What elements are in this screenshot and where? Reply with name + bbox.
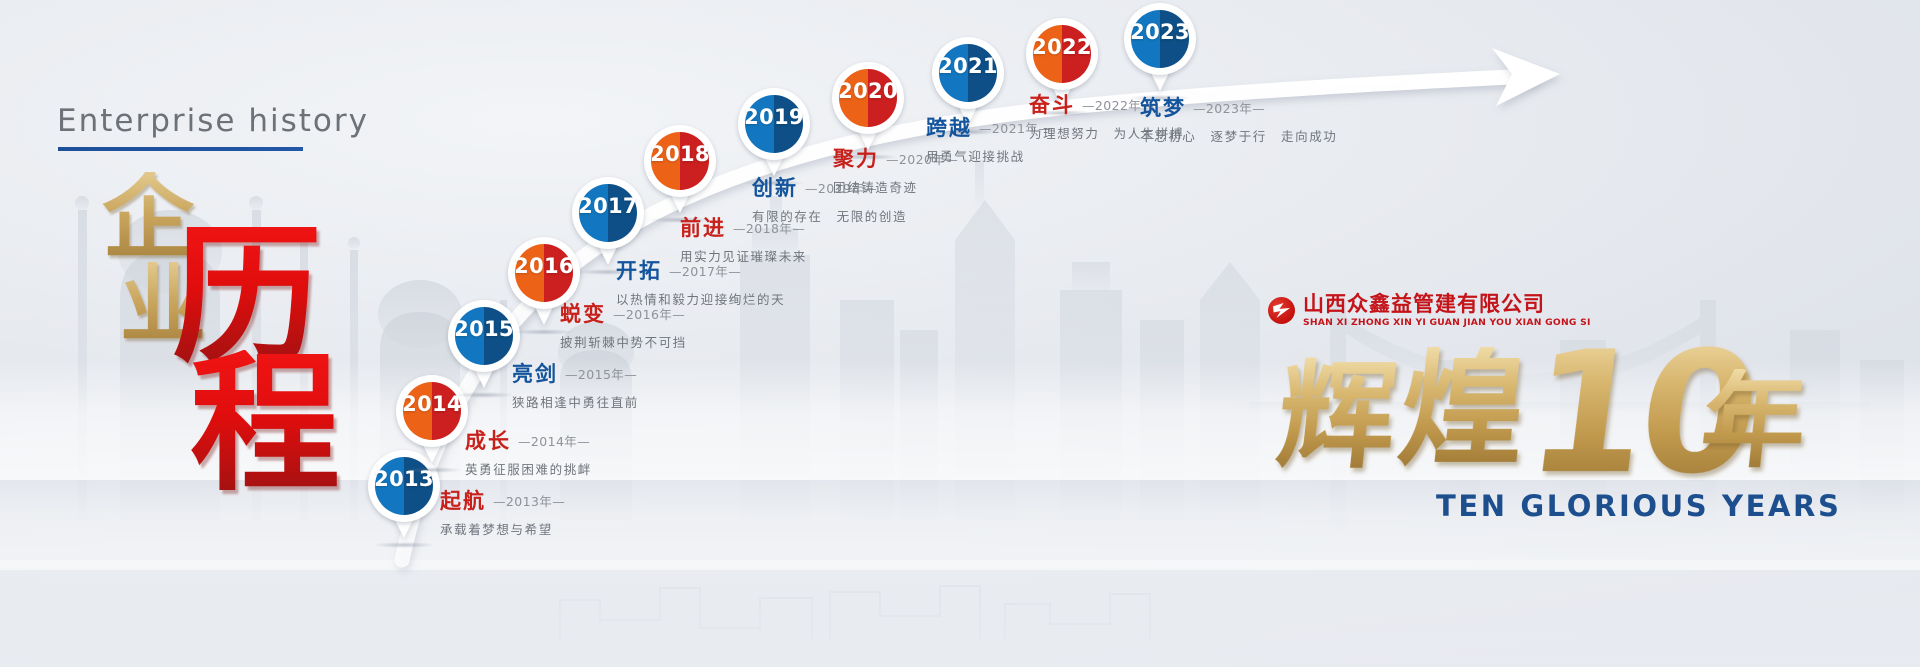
page-title-english: Enterprise history	[57, 103, 369, 139]
milestone-desc: 披荆斩棘中势不可挡	[560, 332, 687, 351]
milestone-desc: 用勇气迎接挑战	[926, 146, 1051, 165]
milestone-desc: 狭路相逢中勇往直前	[512, 392, 639, 411]
milestone-title: 筑梦	[1140, 92, 1186, 122]
milestone-year-tag: —2016年—	[613, 307, 685, 322]
milestone-title: 成长	[465, 425, 511, 455]
company-name-chinese: 山西众鑫益管建有限公司	[1303, 293, 1591, 315]
pin-year-label: 2013	[368, 450, 440, 508]
milestone-title: 创新	[752, 172, 798, 202]
pin-year-label: 2020	[832, 62, 904, 120]
milestone-desc: 英勇征服困难的挑衅	[465, 459, 592, 478]
milestone-pin-2019[interactable]: 2019	[738, 88, 810, 180]
milestone-pin-2018[interactable]: 2018	[644, 125, 716, 217]
milestone-title: 奋斗	[1029, 89, 1075, 119]
milestone-desc: 用实力见证璀璨未来	[680, 246, 807, 265]
milestone-title: 蜕变	[560, 298, 606, 328]
title-divider	[58, 147, 303, 151]
milestone-title: 前进	[680, 212, 726, 242]
milestone-label-2013[interactable]: 起航—2013年— 承载着梦想与希望	[440, 485, 565, 538]
milestone-title: 起航	[440, 485, 486, 515]
milestone-label-2015[interactable]: 亮剑—2015年— 狭路相逢中勇往直前	[512, 358, 639, 411]
company-logo-icon	[1268, 297, 1295, 324]
pin-year-label: 2016	[508, 237, 580, 295]
brand-block: 山西众鑫益管建有限公司 SHAN XI ZHONG XIN YI GUAN JI…	[1288, 293, 1888, 613]
milestone-year-tag: —2017年—	[669, 264, 741, 279]
milestone-desc: 有限的存在 无限的创造	[752, 206, 907, 225]
page-title-chinese: 企 业 历 程	[80, 160, 380, 450]
milestone-year-tag: —2014年—	[518, 434, 590, 449]
milestone-label-2023[interactable]: 筑梦—2023年— 不忘初心 逐梦于行 走向成功	[1140, 92, 1337, 145]
title-char-cheng: 程	[190, 350, 340, 500]
glory-char-huang: 煌	[1393, 347, 1532, 473]
infographic-canvas: Enterprise history 企 业 历 程 2013 2014 201…	[0, 0, 1920, 667]
pin-year-label: 2021	[932, 37, 1004, 95]
milestone-year-tag: —2013年—	[493, 494, 565, 509]
pin-year-label: 2014	[396, 375, 468, 433]
glory-char-hui: 辉	[1272, 357, 1402, 475]
milestone-year-tag: —2015年—	[565, 367, 637, 382]
milestone-desc: 承载着梦想与希望	[440, 519, 565, 538]
milestone-title: 亮剑	[512, 358, 558, 388]
pin-year-label: 2022	[1026, 18, 1098, 76]
milestone-desc: 不忘初心 逐梦于行 走向成功	[1140, 126, 1337, 145]
milestone-pin-2020[interactable]: 2020	[832, 62, 904, 154]
milestone-desc: 以热情和毅力迎接绚烂的天	[616, 289, 785, 308]
milestone-label-2014[interactable]: 成长—2014年— 英勇征服困难的挑衅	[465, 425, 592, 478]
glory-char-nian: 年	[1697, 369, 1812, 473]
pin-year-label: 2015	[448, 300, 520, 358]
pin-year-label: 2018	[644, 125, 716, 183]
pin-shadow	[374, 542, 434, 548]
milestone-title: 聚力	[833, 143, 879, 173]
milestone-desc: 团结铸造奇迹	[833, 177, 958, 196]
pin-year-label: 2023	[1124, 3, 1196, 61]
pin-year-label: 2017	[572, 177, 644, 235]
glory-subtitle-english: TEN GLORIOUS YEARS	[1436, 489, 1841, 523]
pin-year-label: 2019	[738, 88, 810, 146]
milestone-pin-2023[interactable]: 2023	[1124, 3, 1196, 95]
milestone-title: 开拓	[616, 255, 662, 285]
milestone-title: 跨越	[926, 112, 972, 142]
milestone-pin-2013[interactable]: 2013	[368, 450, 440, 542]
milestone-year-tag: —2023年—	[1193, 101, 1265, 116]
